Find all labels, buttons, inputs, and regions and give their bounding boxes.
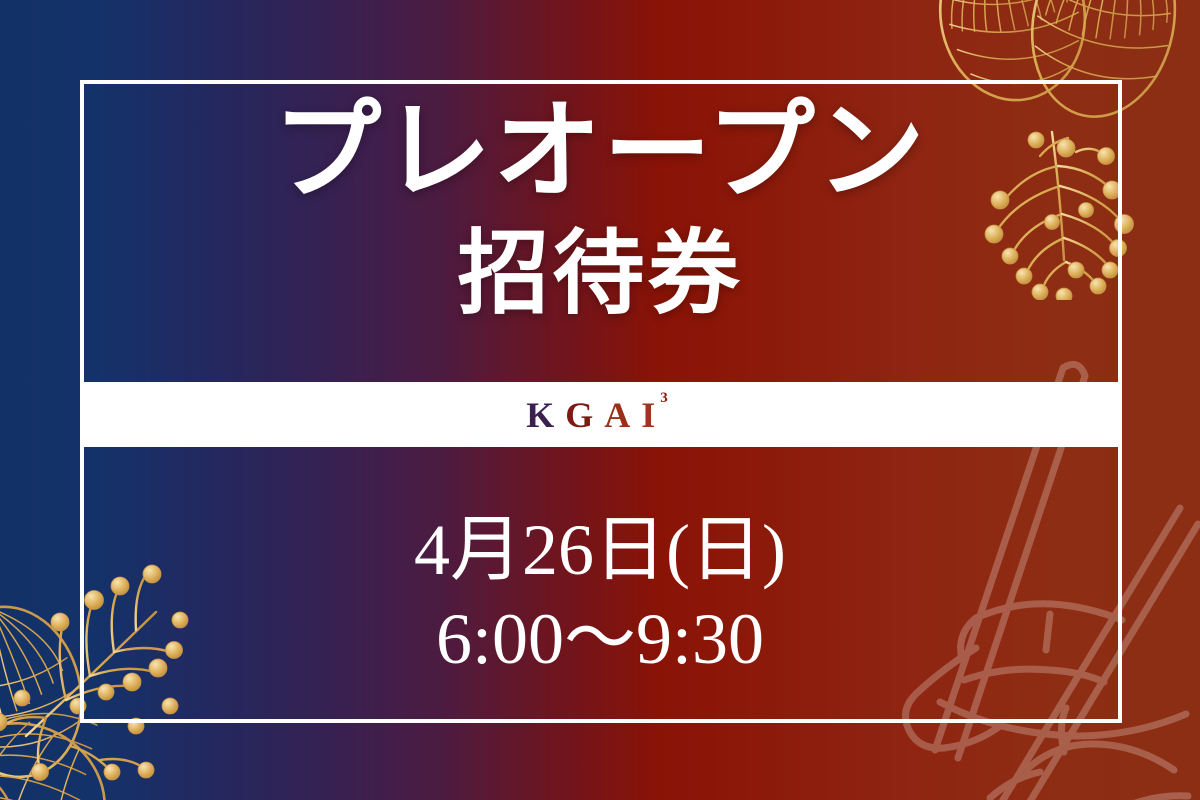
headline-sub: 招待券 [0,226,1200,323]
logo-band: K G A I 3 [80,382,1120,447]
logo-superscript: 3 [660,391,668,406]
headline-block: プレオープン 招待券 [0,96,1200,323]
invitation-poster: プレオープン 招待券 K G A I 3 4月26日(日) 6:00〜9:30 [0,0,1200,800]
brand-logo: K G A I 3 [526,397,674,433]
event-time: 6:00〜9:30 [0,597,1200,682]
headline-main: プレオープン [0,96,1200,208]
event-date: 4月26日(日) [0,508,1200,593]
logo-letter-k: K [526,397,565,433]
logo-letter-a: A [604,397,641,433]
logo-letter-g: G [565,397,604,433]
datetime-block: 4月26日(日) 6:00〜9:30 [0,508,1200,682]
